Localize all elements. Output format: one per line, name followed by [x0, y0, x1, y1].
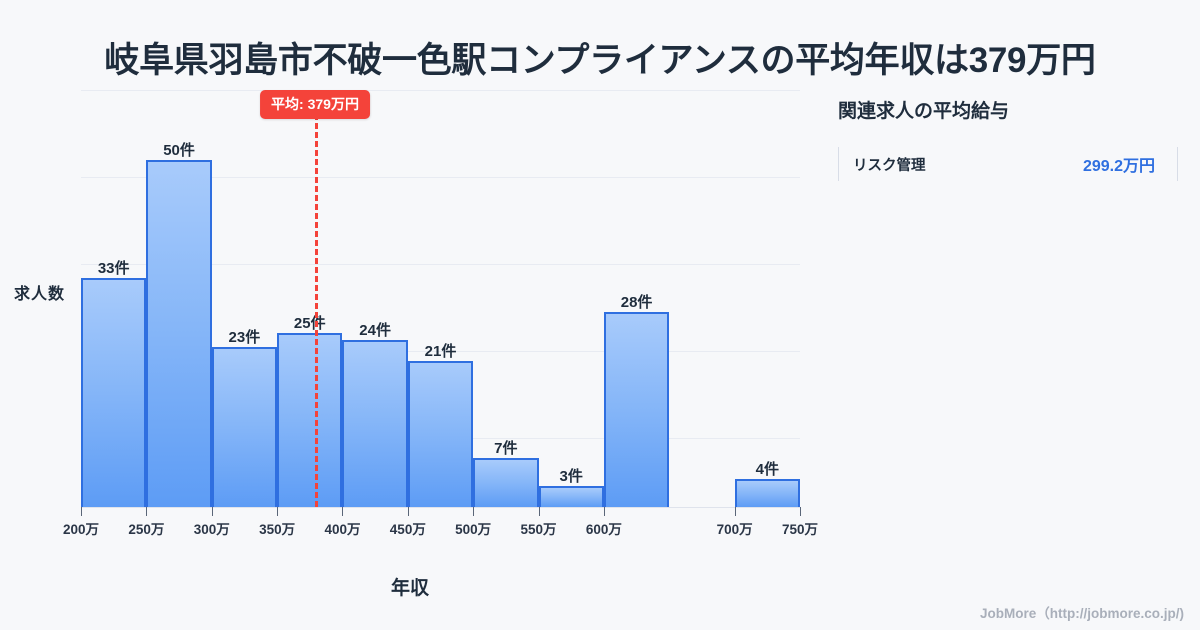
x-tick-label: 700万 [717, 518, 753, 538]
x-tick [604, 507, 605, 516]
plot-area: 33件50件23件25件24件21件7件3件28件4件 200万250万300万… [81, 90, 800, 507]
related-salary-name: リスク管理 [853, 154, 926, 175]
x-tick-label: 200万 [63, 518, 99, 538]
x-tick-label: 400万 [324, 518, 360, 538]
bar-value-label: 24件 [342, 319, 407, 340]
bar-value-label: 23件 [212, 326, 277, 347]
bar-value-label: 4件 [735, 458, 800, 479]
x-axis-line [81, 507, 800, 508]
bar-value-label: 21件 [408, 340, 473, 361]
bar-value-label: 50件 [146, 139, 211, 160]
bar [473, 458, 538, 507]
bar-value-label: 25件 [277, 312, 342, 333]
bar [735, 479, 800, 507]
related-salary-heading: 関連求人の平均給与 [838, 96, 1178, 123]
x-tick [408, 507, 409, 516]
bar-value-label: 7件 [473, 437, 538, 458]
bar [212, 347, 277, 507]
average-badge: 平均: 379万円 [260, 90, 370, 119]
bar [604, 312, 669, 507]
related-salary-value: 299.2万円 [1083, 152, 1155, 176]
related-salary-list: リスク管理299.2万円 [838, 147, 1178, 181]
x-tick-label: 450万 [390, 518, 426, 538]
y-axis-title: 求人数 [14, 280, 65, 304]
bar-value-label: 33件 [81, 257, 146, 278]
x-tick [342, 507, 343, 516]
x-tick [81, 507, 82, 516]
x-tick [539, 507, 540, 516]
related-salary-row: リスク管理299.2万円 [838, 147, 1178, 181]
x-tick [277, 507, 278, 516]
related-salary-panel: 関連求人の平均給与 リスク管理299.2万円 [838, 96, 1178, 181]
gridline [81, 90, 800, 91]
bar [81, 278, 146, 507]
x-tick-label: 500万 [455, 518, 491, 538]
x-tick-label: 600万 [586, 518, 622, 538]
x-axis-title: 年収 [0, 573, 820, 600]
x-tick-label: 750万 [782, 518, 818, 538]
average-line [315, 114, 318, 507]
x-tick-label: 550万 [521, 518, 557, 538]
bar [146, 160, 211, 508]
bar-value-label: 3件 [539, 465, 604, 486]
x-tick-label: 250万 [128, 518, 164, 538]
bar [539, 486, 604, 507]
chart-page: 岐阜県羽島市不破一色駅コンプライアンスの平均年収は379万円 求人数 33件50… [0, 0, 1200, 630]
bar-value-label: 28件 [604, 291, 669, 312]
x-tick [473, 507, 474, 516]
bar [277, 333, 342, 507]
footer-credit: JobMore（http://jobmore.co.jp/) [980, 602, 1184, 622]
x-tick [735, 507, 736, 516]
bar [408, 361, 473, 507]
x-tick [800, 507, 801, 516]
x-tick-label: 350万 [259, 518, 295, 538]
page-title: 岐阜県羽島市不破一色駅コンプライアンスの平均年収は379万円 [0, 32, 1200, 83]
x-tick-label: 300万 [194, 518, 230, 538]
bar [342, 340, 407, 507]
x-tick [146, 507, 147, 516]
histogram-chart: 求人数 33件50件23件25件24件21件7件3件28件4件 200万250万… [0, 88, 820, 588]
x-tick [212, 507, 213, 516]
